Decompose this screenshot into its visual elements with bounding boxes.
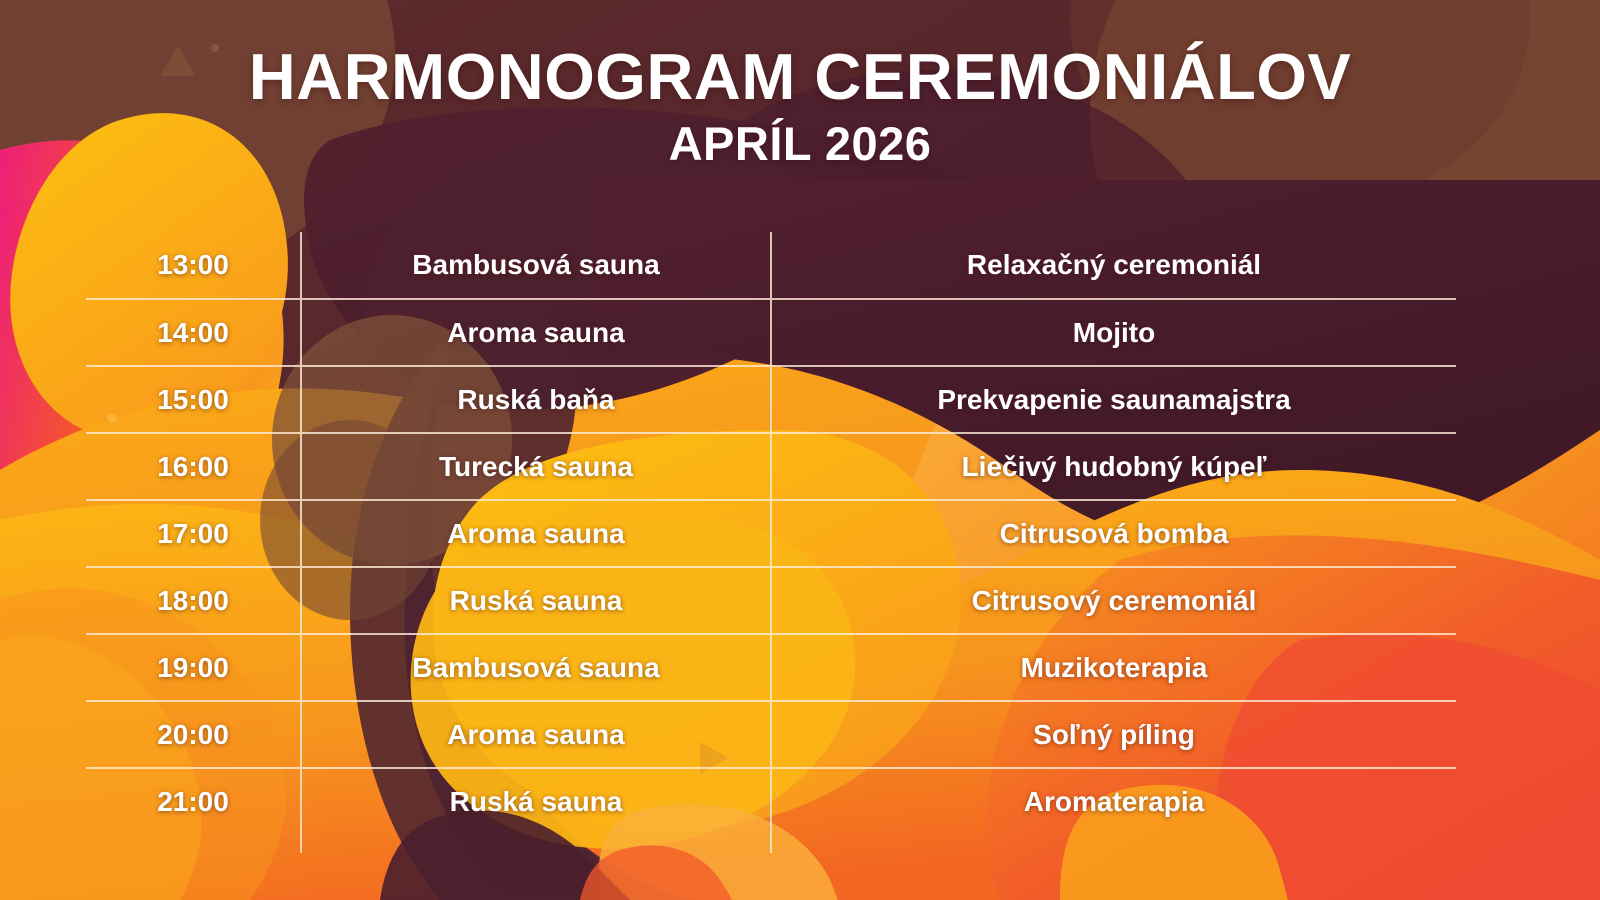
cell-event: Aromaterapia <box>771 768 1456 835</box>
cell-time: 16:00 <box>86 433 301 500</box>
cell-time: 21:00 <box>86 768 301 835</box>
cell-sauna: Bambusová sauna <box>301 232 771 299</box>
table-row: 19:00 Bambusová sauna Muzikoterapia <box>86 634 1456 701</box>
cell-time: 14:00 <box>86 299 301 366</box>
cell-sauna: Bambusová sauna <box>301 634 771 701</box>
cell-time: 15:00 <box>86 366 301 433</box>
cell-event: Soľný píling <box>771 701 1456 768</box>
cell-time: 17:00 <box>86 500 301 567</box>
cell-event: Prekvapenie saunamajstra <box>771 366 1456 433</box>
cell-time: 18:00 <box>86 567 301 634</box>
cell-sauna: Aroma sauna <box>301 299 771 366</box>
cell-sauna: Turecká sauna <box>301 433 771 500</box>
cell-time: 13:00 <box>86 232 301 299</box>
table-row: 17:00 Aroma sauna Citrusová bomba <box>86 500 1456 567</box>
table-row: 21:00 Ruská sauna Aromaterapia <box>86 768 1456 835</box>
cell-event: Relaxačný ceremoniál <box>771 232 1456 299</box>
cell-sauna: Ruská sauna <box>301 567 771 634</box>
table-row: 15:00 Ruská baňa Prekvapenie saunamajstr… <box>86 366 1456 433</box>
cell-event: Citrusový ceremoniál <box>771 567 1456 634</box>
cell-event: Liečivý hudobný kúpeľ <box>771 433 1456 500</box>
table-row: 14:00 Aroma sauna Mojito <box>86 299 1456 366</box>
cell-time: 19:00 <box>86 634 301 701</box>
cell-time: 20:00 <box>86 701 301 768</box>
schedule-body: 13:00 Bambusová sauna Relaxačný ceremoni… <box>86 232 1456 835</box>
schedule-table: 13:00 Bambusová sauna Relaxačný ceremoni… <box>86 232 1456 835</box>
cell-sauna: Ruská sauna <box>301 768 771 835</box>
poster-canvas: HARMONOGRAM CEREMONIÁLOV APRÍL 2026 13:0… <box>0 0 1600 900</box>
cell-sauna: Aroma sauna <box>301 500 771 567</box>
cell-sauna: Ruská baňa <box>301 366 771 433</box>
cell-event: Mojito <box>771 299 1456 366</box>
cell-sauna: Aroma sauna <box>301 701 771 768</box>
page-subtitle: APRÍL 2026 <box>0 115 1600 174</box>
cell-event: Muzikoterapia <box>771 634 1456 701</box>
title-block: HARMONOGRAM CEREMONIÁLOV APRÍL 2026 <box>0 44 1600 174</box>
cell-event: Citrusová bomba <box>771 500 1456 567</box>
table-row: 20:00 Aroma sauna Soľný píling <box>86 701 1456 768</box>
table-row: 13:00 Bambusová sauna Relaxačný ceremoni… <box>86 232 1456 299</box>
table-row: 18:00 Ruská sauna Citrusový ceremoniál <box>86 567 1456 634</box>
page-title: HARMONOGRAM CEREMONIÁLOV <box>0 44 1600 111</box>
table-row: 16:00 Turecká sauna Liečivý hudobný kúpe… <box>86 433 1456 500</box>
